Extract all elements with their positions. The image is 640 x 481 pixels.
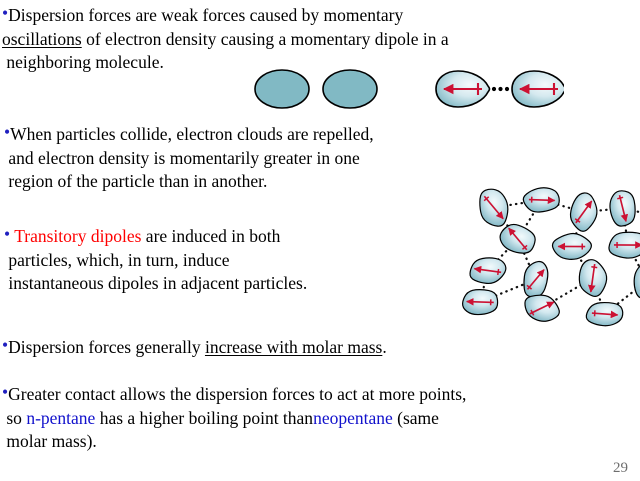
dipole-particle-left <box>436 71 490 107</box>
paragraph-text: Transitory dipoles are induced in both p… <box>4 226 307 293</box>
instantaneous-dipole-cluster-diagram <box>412 182 640 332</box>
paragraph-particle-collision: •When particles collide, electron clouds… <box>4 123 444 194</box>
dipole-tail-bar <box>594 310 595 316</box>
text-run: oscillations <box>2 29 82 49</box>
text-run: Dispersion forces are weak forces caused… <box>8 5 403 25</box>
induced-dipole-pair-diagram <box>428 62 564 118</box>
cluster-particle <box>607 230 640 260</box>
cluster-particle <box>585 301 623 327</box>
cluster-particle <box>497 221 539 258</box>
cluster-particle <box>520 259 551 300</box>
cluster-particle <box>468 255 508 286</box>
cluster-particle <box>462 288 499 315</box>
cluster-particle <box>632 262 640 300</box>
dipole-particle-right <box>512 71 564 107</box>
cluster-particle <box>609 190 636 227</box>
slide-canvas: •Dispersion forces are weak forces cause… <box>0 0 640 481</box>
text-run: neopentane <box>313 408 393 428</box>
text-run: increase with molar mass <box>205 337 382 357</box>
paragraph-text: When particles collide, electron clouds … <box>4 124 374 191</box>
neutral-particle-right <box>323 70 377 108</box>
text-run: has a higher boiling point than <box>95 408 313 428</box>
paragraph-text: Dispersion forces generally increase wit… <box>8 337 387 357</box>
cluster-particle <box>475 185 514 230</box>
dipole-tail-bar <box>582 244 583 250</box>
neutral-particle-left <box>255 70 309 108</box>
text-run: n-pentane <box>26 408 95 428</box>
cluster-particle <box>568 191 599 233</box>
paragraph-text: Greater contact allows the dispersion fo… <box>2 384 466 451</box>
dipole-tail-bar <box>616 242 617 248</box>
cluster-particle <box>522 186 560 213</box>
contact-dots <box>492 87 509 91</box>
particle-body <box>632 262 640 300</box>
text-run: Transitory dipoles <box>14 226 141 246</box>
text-run: . <box>382 337 386 357</box>
paragraph-transitory-dipoles: • Transitory dipoles are induced in both… <box>4 225 424 296</box>
text-run: Dispersion forces generally <box>8 337 205 357</box>
dipole-tail-bar <box>490 299 491 305</box>
paragraph-molar-mass: •Dispersion forces generally increase wi… <box>2 336 622 360</box>
text-run: When particles collide, electron clouds … <box>4 124 374 191</box>
cluster-particle <box>577 258 608 298</box>
paragraph-pentane-comparison: •Greater contact allows the dispersion f… <box>2 383 638 454</box>
two-neutral-particles-diagram <box>252 62 392 118</box>
cluster-particle <box>552 232 592 260</box>
cluster-particles <box>462 185 640 328</box>
page-number: 29 <box>613 460 628 477</box>
dipole-tail-bar <box>531 197 532 203</box>
